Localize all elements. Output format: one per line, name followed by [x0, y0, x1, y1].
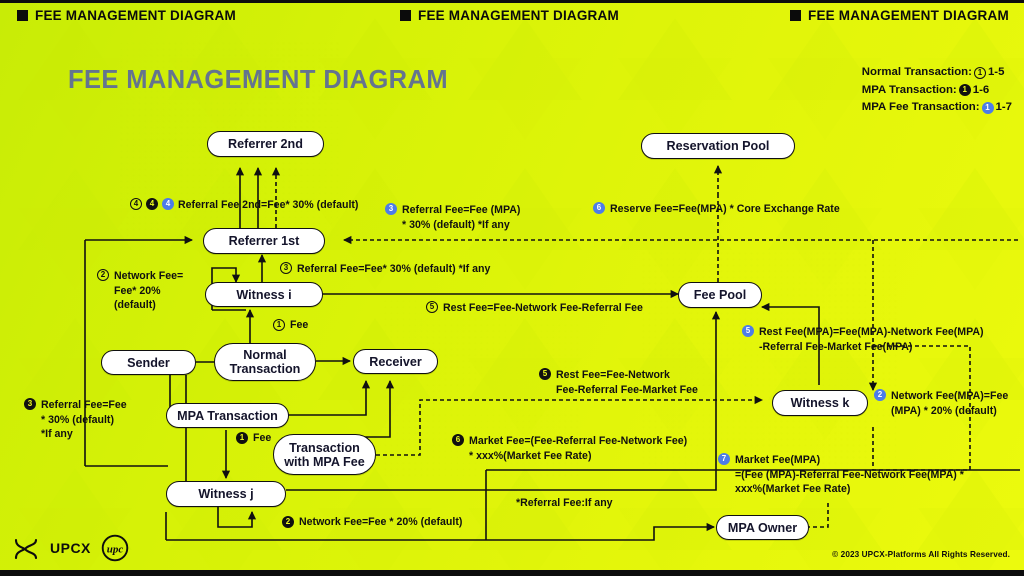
node-fee-pool[interactable]: Fee Pool — [678, 282, 762, 308]
node-referrer-2nd[interactable]: Referrer 2nd — [207, 131, 324, 157]
svg-text:upc: upc — [107, 544, 124, 556]
node-mpa-owner[interactable]: MPA Owner — [716, 515, 809, 540]
step-badge-6-blue: 6 — [593, 202, 605, 214]
node-receiver[interactable]: Receiver — [353, 349, 438, 374]
node-label: Normal Transaction — [230, 348, 301, 376]
node-label: MPA Transaction — [177, 409, 278, 423]
step-badge-5-outline: 5 — [426, 301, 438, 313]
annotation-rest-fee-market: 5 Rest Fee=Fee-Network Fee-Referral Fee-… — [537, 368, 698, 397]
node-label: Receiver — [369, 355, 422, 369]
annotation-fee-mpa: 1 Fee — [234, 431, 271, 446]
annotation-fee-1: 1 Fee — [271, 318, 308, 333]
upcx-wordmark: UPCX — [50, 540, 91, 556]
annotation-text: Referral Fee=Fee (MPA) * 30% (default) *… — [402, 203, 520, 232]
annotation-text: Rest Fee=Fee-Network Fee-Referral Fee-Ma… — [556, 368, 698, 397]
annotation-text: Reserve Fee=Fee(MPA) * Core Exchange Rat… — [610, 202, 840, 217]
step-badge-4-outline: 4 — [130, 198, 142, 210]
node-label: Witness k — [791, 396, 850, 410]
step-badge-5-blue: 5 — [742, 325, 754, 337]
upc-circle-icon: upc — [101, 534, 129, 562]
step-badge-6-black: 6 — [452, 434, 464, 446]
node-transaction-with-mpa-fee[interactable]: Transaction with MPA Fee — [273, 434, 376, 475]
annotation-reserve-fee: 6 Reserve Fee=Fee(MPA) * Core Exchange R… — [591, 202, 840, 217]
annotation-text: Referral Fee=Fee * 30% (default) *If any — [41, 398, 127, 442]
annotation-text: Referral Fee=Fee* 30% (default) *If any — [297, 262, 490, 277]
annotation-network-fee-20-bottom: 2 Network Fee=Fee * 20% (default) — [280, 515, 462, 530]
annotation-text: Fee — [290, 318, 308, 333]
annotation-referral-fee-2nd: 4 4 4 Referral Fee 2nd=Fee* 30% (default… — [128, 198, 358, 213]
annotation-text: Rest Fee(MPA)=Fee(MPA)-Network Fee(MPA) … — [759, 325, 984, 354]
step-badge-4-blue: 4 — [162, 198, 174, 210]
node-label: Sender — [127, 356, 170, 370]
annotation-referral-fee-mpa: 3 Referral Fee=Fee (MPA) * 30% (default)… — [383, 203, 520, 232]
node-witness-i[interactable]: Witness i — [205, 282, 323, 307]
annotation-network-fee-20: 2 Network Fee= Fee* 20% (default) — [95, 269, 183, 313]
step-badge-2-outline: 2 — [97, 269, 109, 281]
node-label: Transaction with MPA Fee — [284, 441, 364, 469]
node-witness-j[interactable]: Witness j — [166, 481, 286, 507]
annotation-text: Market Fee=(Fee-Referral Fee-Network Fee… — [469, 434, 687, 463]
step-badge-3-outline: 3 — [280, 262, 292, 274]
node-sender[interactable]: Sender — [101, 350, 196, 375]
annotation-market-fee-mpa: 7 Market Fee(MPA) =(Fee (MPA)-Referral F… — [716, 453, 964, 497]
annotation-rest-fee-mpa: 5 Rest Fee(MPA)=Fee(MPA)-Network Fee(MPA… — [740, 325, 984, 354]
step-badge-1-black: 1 — [236, 432, 248, 444]
annotation-network-fee-mpa: 2 Network Fee(MPA)=Fee (MPA) * 20% (defa… — [872, 389, 1008, 418]
annotation-text: Rest Fee=Fee-Network Fee-Referral Fee — [443, 301, 643, 316]
annotation-market-fee: 6 Market Fee=(Fee-Referral Fee-Network F… — [450, 434, 687, 463]
annotation-text: Network Fee=Fee * 20% (default) — [299, 515, 462, 530]
footer-logo: UPCX upc — [14, 534, 129, 562]
step-badge-3-blue: 3 — [385, 203, 397, 215]
node-reservation-pool[interactable]: Reservation Pool — [641, 133, 795, 159]
step-badge-7-blue: 7 — [718, 453, 730, 465]
step-badge-2-blue: 2 — [874, 389, 886, 401]
node-label: Referrer 1st — [229, 234, 300, 248]
annotation-text: Network Fee(MPA)=Fee (MPA) * 20% (defaul… — [891, 389, 1008, 418]
node-normal-transaction[interactable]: Normal Transaction — [214, 343, 316, 381]
node-witness-k[interactable]: Witness k — [772, 390, 868, 416]
node-label: Fee Pool — [694, 288, 746, 302]
node-label: Witness j — [198, 487, 253, 501]
node-mpa-transaction[interactable]: MPA Transaction — [166, 403, 289, 428]
annotation-referral-fee-if-any: *Referral Fee:If any — [516, 481, 613, 510]
step-badge-2-black: 2 — [282, 516, 294, 528]
node-label: MPA Owner — [728, 521, 797, 535]
step-badge-1-outline: 1 — [273, 319, 285, 331]
annotation-text: Fee — [253, 431, 271, 446]
step-badge-5-black: 5 — [539, 368, 551, 380]
annotation-text: Network Fee= Fee* 20% (default) — [114, 269, 183, 313]
step-badge-3-black: 3 — [24, 398, 36, 410]
annotation-text: Market Fee(MPA) =(Fee (MPA)-Referral Fee… — [735, 453, 964, 497]
copyright-text: © 2023 UPCX-Platforms All Rights Reserve… — [832, 550, 1010, 559]
annotation-referral-fee-30: 3 Referral Fee=Fee* 30% (default) *If an… — [278, 262, 490, 277]
node-referrer-1st[interactable]: Referrer 1st — [203, 228, 325, 254]
node-label: Reservation Pool — [667, 139, 770, 153]
annotation-text: *Referral Fee:If any — [516, 497, 613, 509]
annotation-text: Referral Fee 2nd=Fee* 30% (default) — [178, 198, 358, 213]
annotation-rest-fee: 5 Rest Fee=Fee-Network Fee-Referral Fee — [424, 301, 643, 316]
node-label: Witness i — [236, 288, 291, 302]
upcx-mark-icon — [14, 537, 40, 559]
diagram-canvas: FEE MANAGEMENT DIAGRAM FEE MANAGEMENT DI… — [0, 0, 1024, 576]
step-badge-4-black: 4 — [146, 198, 158, 210]
annotation-referral-fee-left: 3 Referral Fee=Fee * 30% (default) *If a… — [22, 398, 127, 442]
node-label: Referrer 2nd — [228, 137, 303, 151]
